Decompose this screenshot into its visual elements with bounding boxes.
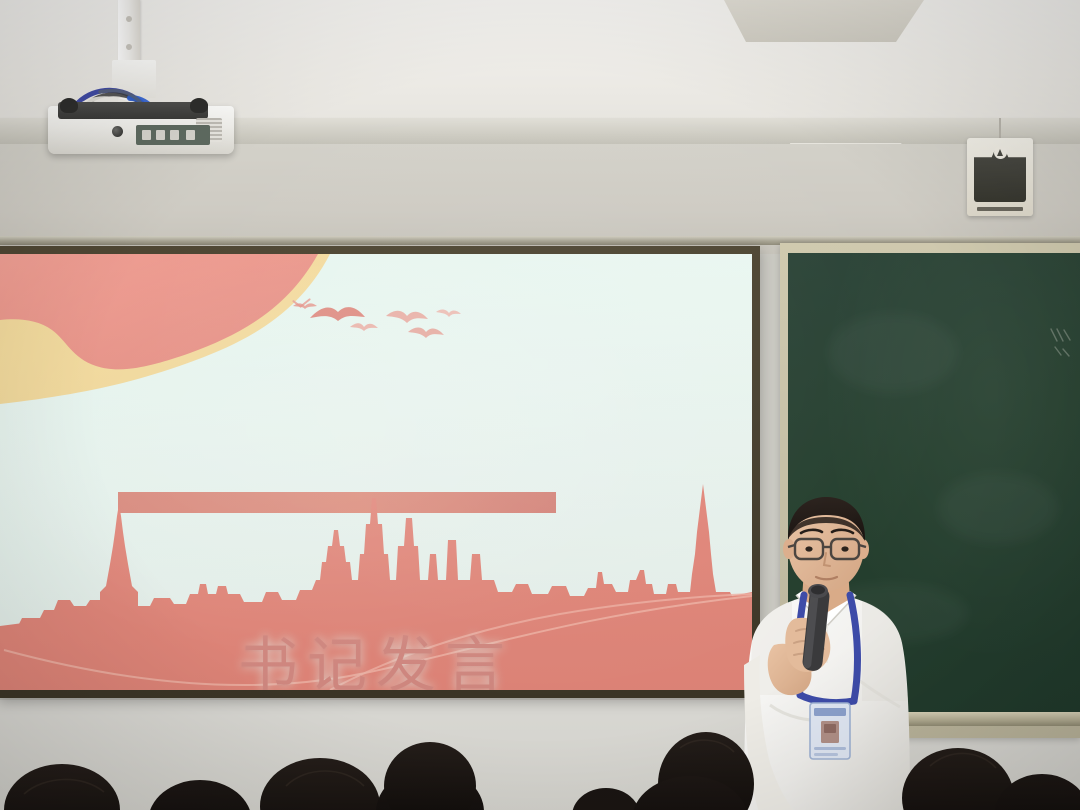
student-head (4, 764, 120, 810)
projector-adjust-knob-right (190, 98, 208, 113)
projection-screen: 书记发言 外国语学院 (0, 254, 752, 690)
student-head (572, 788, 640, 810)
speaker-logo-icon (994, 146, 1007, 159)
wall-speaker (967, 138, 1033, 216)
student-head (902, 748, 1014, 810)
projector-adjust-knob-left (60, 98, 78, 113)
student-head (148, 780, 252, 810)
presentation-slide-graphics (0, 254, 752, 690)
slide-accent-bar (118, 492, 556, 513)
projector-lens (112, 126, 123, 137)
ceiling-recess-panel (724, 0, 924, 42)
classroom-photo: 书记发言 外国语学院 (0, 0, 1080, 810)
chalkboard-chalk-marks-icon (1048, 325, 1078, 359)
audience-students (0, 690, 1080, 810)
speaker-slot (977, 207, 1023, 211)
student-head (384, 742, 476, 810)
projector-port-panel (136, 125, 210, 145)
slide-title: 书记发言 (0, 636, 752, 690)
projector-top-panel (58, 102, 208, 119)
